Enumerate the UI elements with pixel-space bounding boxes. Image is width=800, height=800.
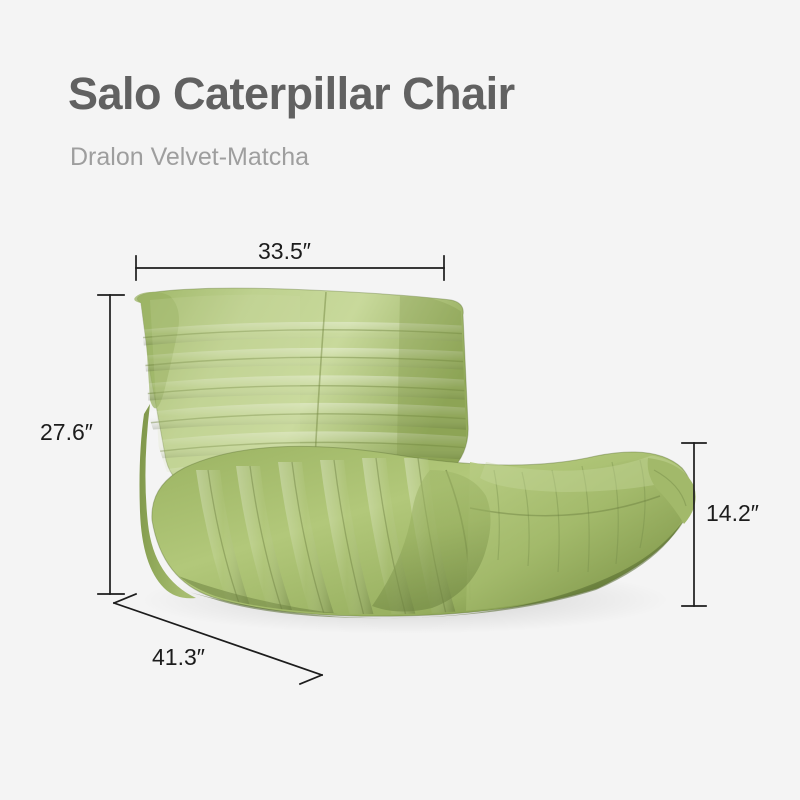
- dimension-height-line: [98, 295, 124, 594]
- dimension-label-seat-height: 14.2″: [706, 500, 759, 527]
- product-illustration: [0, 0, 800, 800]
- chair-body: [134, 288, 695, 620]
- product-spec-page: Salo Caterpillar Chair Dralon Velvet-Mat…: [0, 0, 800, 800]
- dimension-label-width: 33.5″: [258, 238, 311, 265]
- dimension-seat-height-line: [682, 443, 706, 606]
- dimension-label-height: 27.6″: [40, 419, 93, 446]
- dimension-label-depth: 41.3″: [152, 644, 205, 671]
